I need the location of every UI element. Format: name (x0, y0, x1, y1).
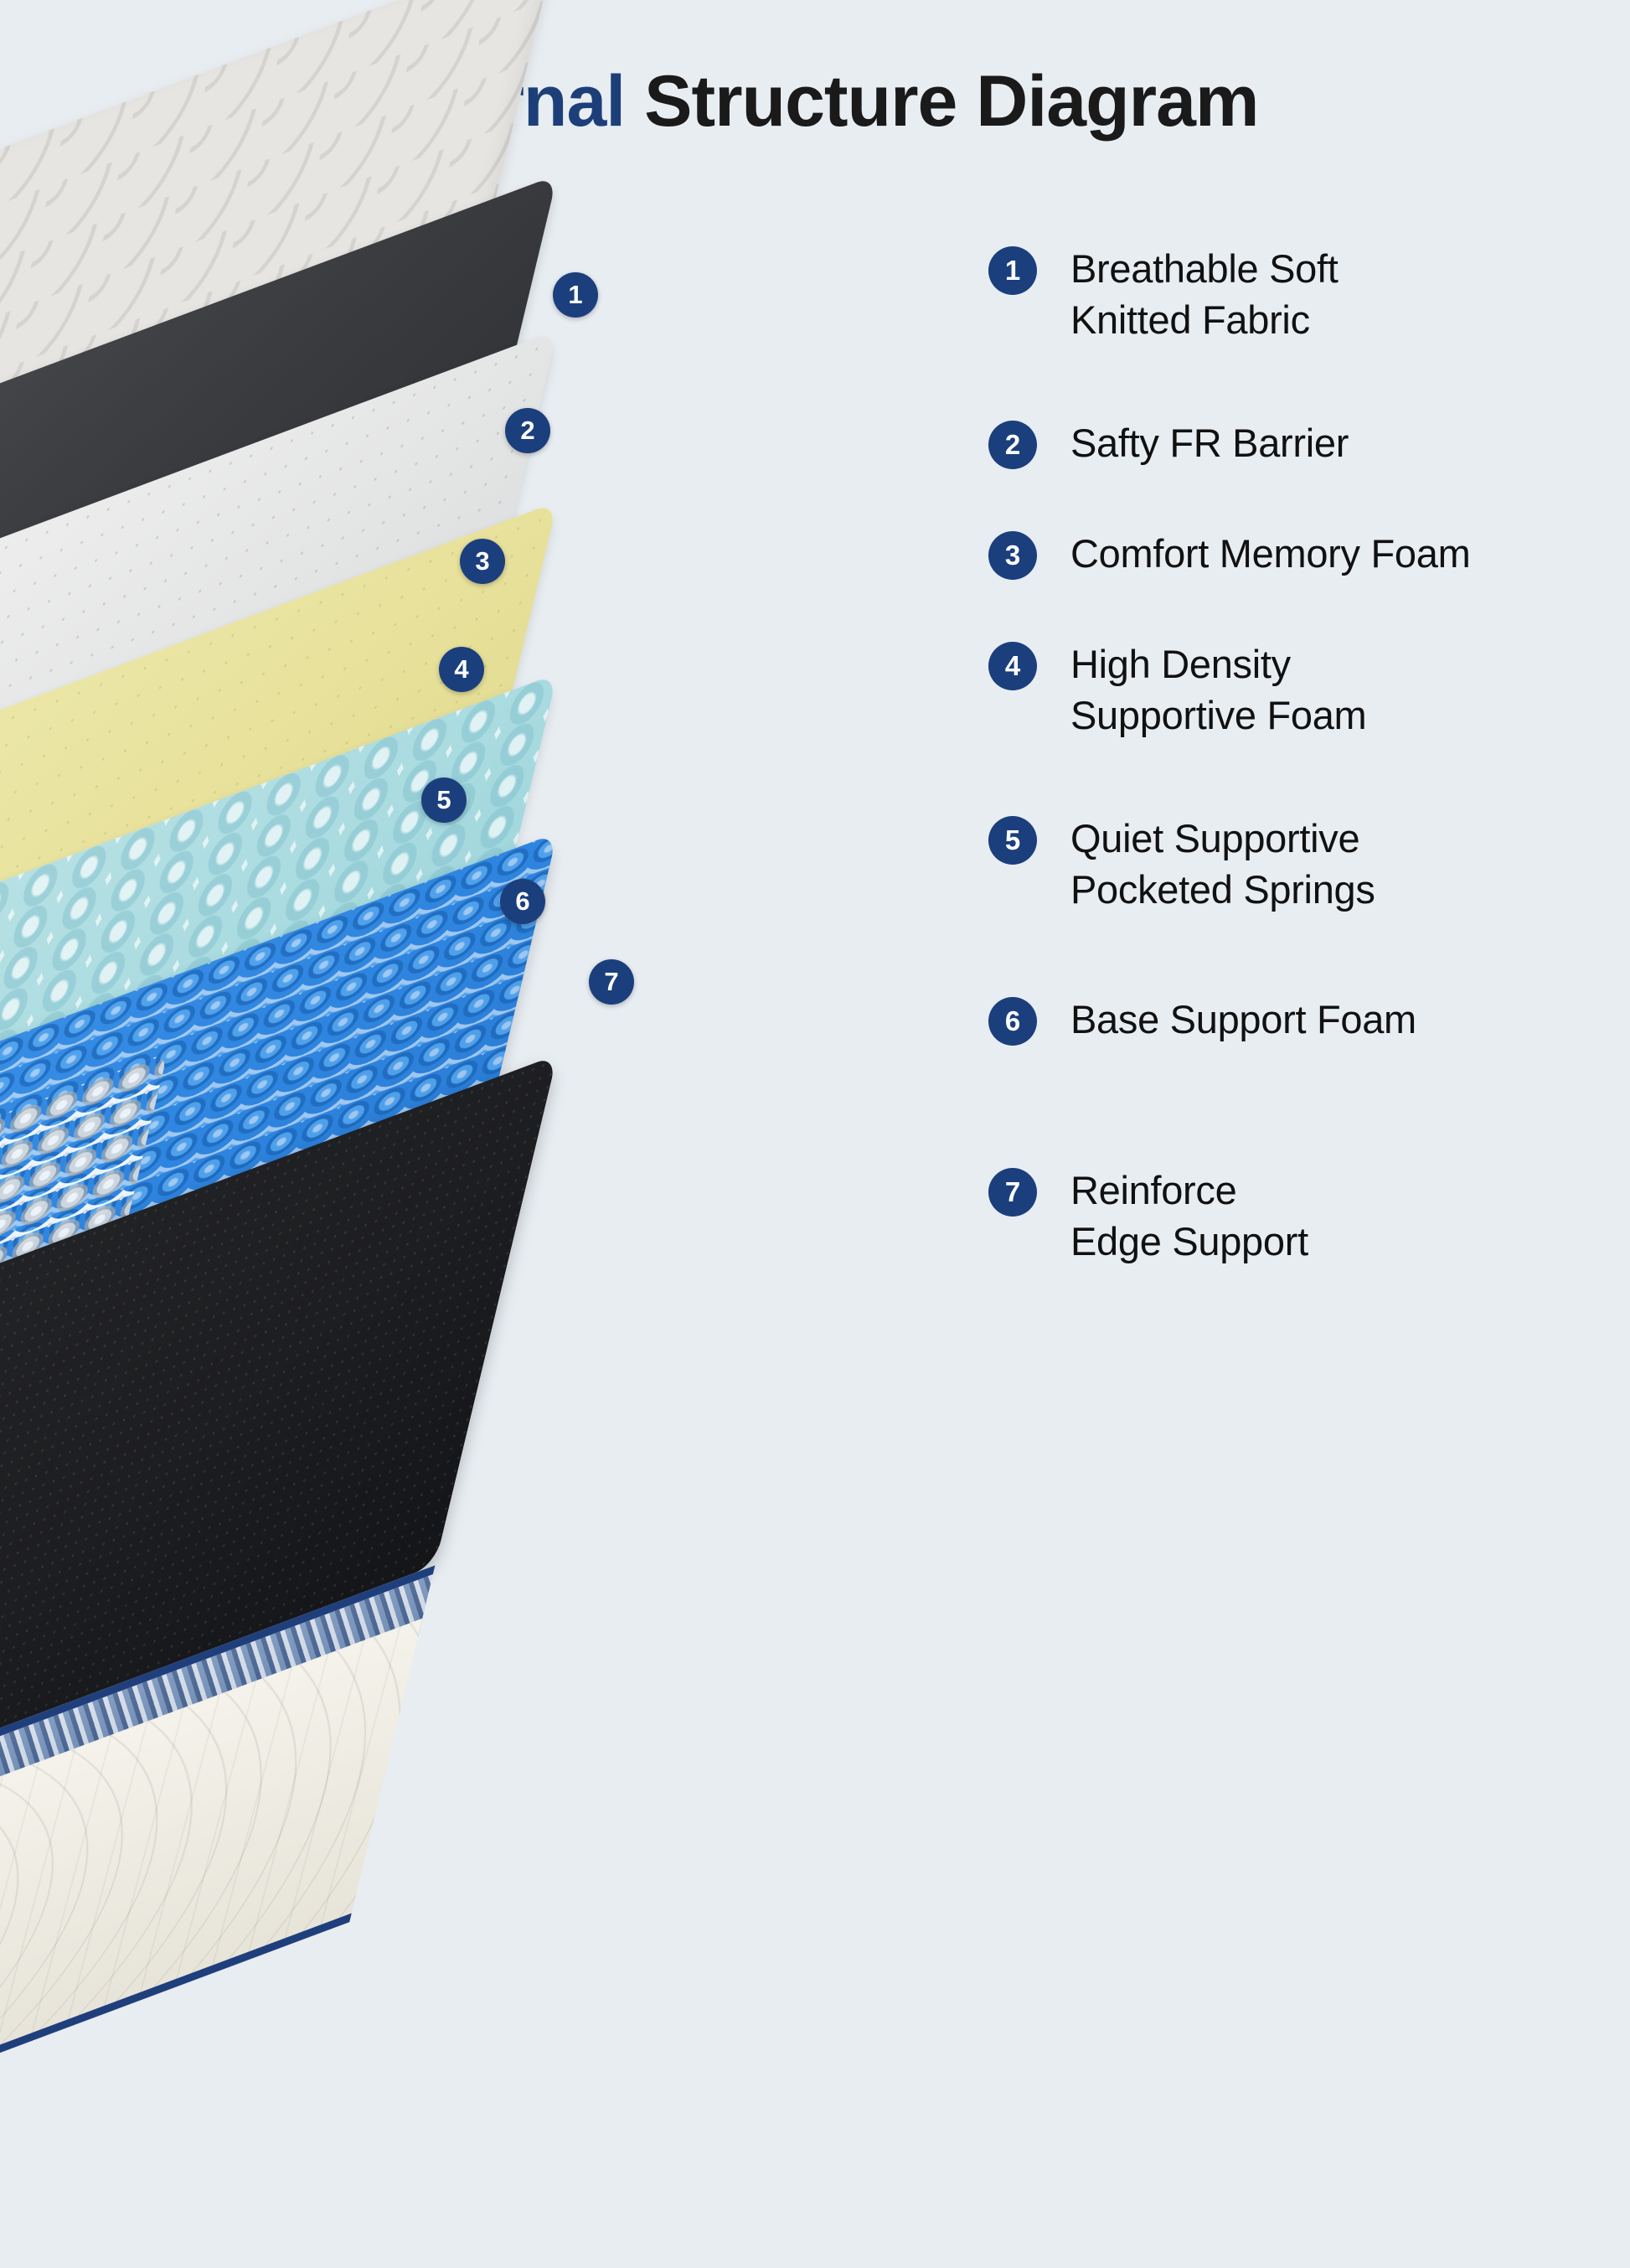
legend-label-1-line1: Breathable Soft (1070, 243, 1339, 294)
legend-item-4[interactable]: 4 High Density Supportive Foam (988, 638, 1366, 741)
legend-badge-1: 1 (988, 246, 1037, 295)
legend-label-7-line2: Edge Support (1070, 1216, 1308, 1267)
legend-label-4-line2: Supportive Foam (1070, 690, 1366, 741)
legend-item-5[interactable]: 5 Quiet Supportive Pocketed Springs (988, 813, 1375, 915)
legend-badge-7: 7 (988, 1168, 1037, 1217)
legend-badge-3: 3 (988, 531, 1037, 580)
callout-badge-5[interactable]: 5 (421, 778, 467, 823)
callout-badge-1[interactable]: 1 (553, 272, 598, 318)
callout-badge-7[interactable]: 7 (589, 959, 634, 1005)
diagram-canvas: Internal Structure Diagram (0, 0, 1630, 1630)
legend-label-4-line1: High Density (1070, 638, 1366, 690)
legend-label-5-line1: Quiet Supportive (1070, 813, 1375, 864)
legend-label-3-line1: Comfort Memory Foam (1070, 528, 1470, 579)
legend-label-7-line1: Reinforce (1070, 1165, 1308, 1216)
legend-label-2: Safty FR Barrier (1070, 417, 1349, 468)
legend-label-4: High Density Supportive Foam (1070, 638, 1366, 741)
legend-badge-5: 5 (988, 816, 1037, 865)
legend-item-3[interactable]: 3 Comfort Memory Foam (988, 528, 1470, 580)
callout-badge-4[interactable]: 4 (439, 647, 484, 692)
callout-badge-2[interactable]: 2 (505, 408, 550, 453)
legend-label-2-line1: Safty FR Barrier (1070, 417, 1349, 468)
legend-item-2[interactable]: 2 Safty FR Barrier (988, 417, 1349, 469)
legend-label-3: Comfort Memory Foam (1070, 528, 1470, 579)
callout-badge-3[interactable]: 3 (460, 539, 505, 584)
legend-label-1: Breathable Soft Knitted Fabric (1070, 243, 1339, 345)
callout-badge-6[interactable]: 6 (500, 879, 545, 924)
legend-label-5-line2: Pocketed Springs (1070, 864, 1375, 915)
legend-badge-4: 4 (988, 642, 1037, 690)
legend-item-1[interactable]: 1 Breathable Soft Knitted Fabric (988, 243, 1339, 345)
legend-label-6-line1: Base Support Foam (1070, 994, 1416, 1045)
legend-label-5: Quiet Supportive Pocketed Springs (1070, 813, 1375, 915)
legend-item-7[interactable]: 7 Reinforce Edge Support (988, 1165, 1308, 1267)
mattress-exploded-illustration (0, 126, 921, 1634)
legend-badge-2: 2 (988, 421, 1037, 469)
legend-badge-6: 6 (988, 997, 1037, 1046)
legend-label-7: Reinforce Edge Support (1070, 1165, 1308, 1267)
legend-label-1-line2: Knitted Fabric (1070, 294, 1339, 345)
legend-item-6[interactable]: 6 Base Support Foam (988, 994, 1416, 1046)
legend-label-6: Base Support Foam (1070, 994, 1416, 1045)
